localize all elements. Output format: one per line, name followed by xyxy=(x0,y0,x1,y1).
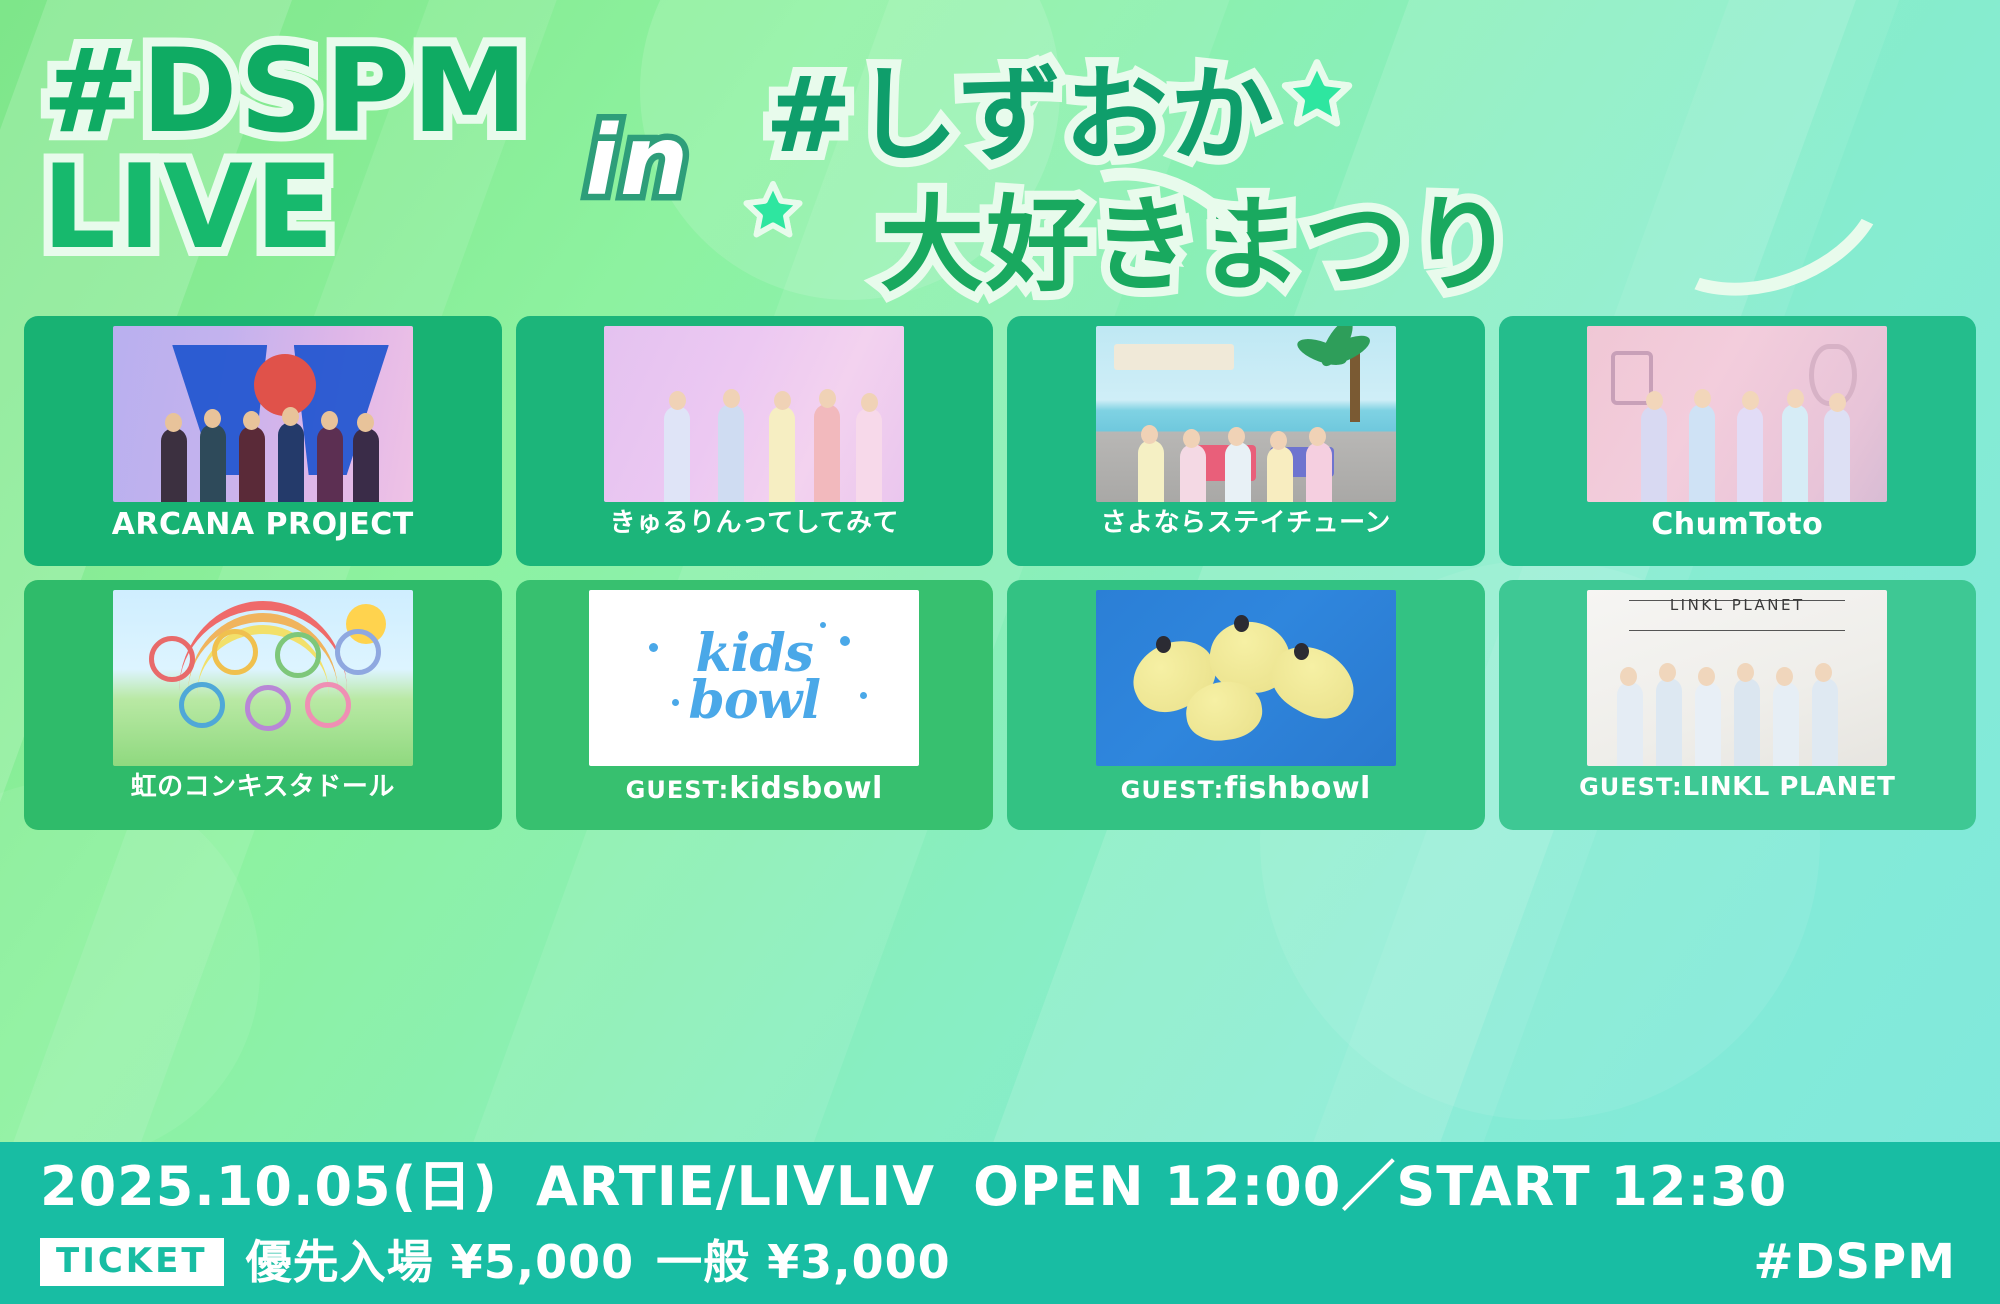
artist-card-fishbowl[interactable]: GUEST:fishbowl xyxy=(1007,580,1485,830)
ticket-label: TICKET xyxy=(40,1238,224,1286)
artist-name: さよならステイチューン xyxy=(1101,510,1391,536)
artist-name: GUEST:LINKL PLANET xyxy=(1579,774,1895,800)
artist-name: 虹のコンキスタドール xyxy=(131,774,395,800)
bg-blob xyxy=(0,780,260,1160)
guest-prefix: GUEST: xyxy=(1121,776,1225,804)
title-dspm: #DSPM xyxy=(42,24,529,159)
event-poster: #DSPM LIVE in #しずおか 大好きまつり xyxy=(0,0,2000,1304)
guest-prefix: GUEST: xyxy=(626,776,730,804)
artist-card-linkl-planet[interactable]: LINKL PLANET GUEST:LINKL PLANET xyxy=(1499,580,1977,830)
guest-prefix: GUEST: xyxy=(1579,773,1683,801)
title-live: LIVE xyxy=(42,140,336,275)
title-shizuoka: #しずおか xyxy=(765,30,1276,181)
artist-photo xyxy=(1096,590,1396,766)
artist-grid: ARCANA PROJECT きゅるりんってしてみて xyxy=(24,316,1976,830)
price-general: 一般 ¥3,000 xyxy=(656,1239,951,1285)
artist-card-kyururin[interactable]: きゅるりんってしてみて xyxy=(516,316,994,566)
guest-name: LINKL PLANET xyxy=(1683,772,1896,802)
artist-photo xyxy=(1096,326,1396,502)
swoosh-decoration xyxy=(1618,82,1911,327)
event-venue: ARTIE/LIVLIV xyxy=(536,1160,935,1214)
title-connector: in xyxy=(585,105,690,217)
artist-photo: LINKL PLANET xyxy=(1587,590,1887,766)
artist-name: ChumToto xyxy=(1651,510,1823,540)
artist-card-kidsbowl[interactable]: kids bowl GUEST:kidsbowl xyxy=(516,580,994,830)
linkl-planet-logo: LINKL PLANET xyxy=(1670,596,1805,614)
event-date: 2025.10.05(日) xyxy=(40,1160,498,1214)
artist-photo xyxy=(1587,326,1887,502)
guest-name: kidsbowl xyxy=(729,771,883,806)
artist-card-chumtoto[interactable]: ChumToto xyxy=(1499,316,1977,566)
artist-card-arcana-project[interactable]: ARCANA PROJECT xyxy=(24,316,502,566)
footer-ticket-row: TICKET 優先入場 ¥5,000 一般 ¥3,000 xyxy=(40,1238,951,1286)
footer-schedule-row: 2025.10.05(日) ARTIE/LIVLIV OPEN 12:00／ST… xyxy=(40,1160,1787,1214)
artist-name: ARCANA PROJECT xyxy=(112,510,414,540)
artist-name: GUEST:kidsbowl xyxy=(626,774,883,804)
poster-title: #DSPM LIVE in #しずおか 大好きまつり xyxy=(0,0,2000,300)
guest-name: fishbowl xyxy=(1224,771,1371,806)
artist-name: GUEST:fishbowl xyxy=(1121,774,1371,804)
price-priority: 優先入場 ¥5,000 xyxy=(246,1239,635,1285)
event-times: OPEN 12:00／START 12:30 xyxy=(973,1160,1787,1214)
hashtag: #DSPM xyxy=(1753,1238,1956,1286)
kidsbowl-logo-line2: bowl xyxy=(688,670,820,731)
artist-name: きゅるりんってしてみて xyxy=(610,510,899,536)
artist-card-sayonara-stay-tune[interactable]: さよならステイチューン xyxy=(1007,316,1485,566)
artist-card-niji-no-conquistador[interactable]: 虹のコンキスタドール xyxy=(24,580,502,830)
artist-logo: kids bowl xyxy=(589,590,919,766)
artist-photo xyxy=(604,326,904,502)
artist-photo xyxy=(113,326,413,502)
artist-photo xyxy=(113,590,413,766)
footer-info-bar: 2025.10.05(日) ARTIE/LIVLIV OPEN 12:00／ST… xyxy=(0,1142,2000,1304)
